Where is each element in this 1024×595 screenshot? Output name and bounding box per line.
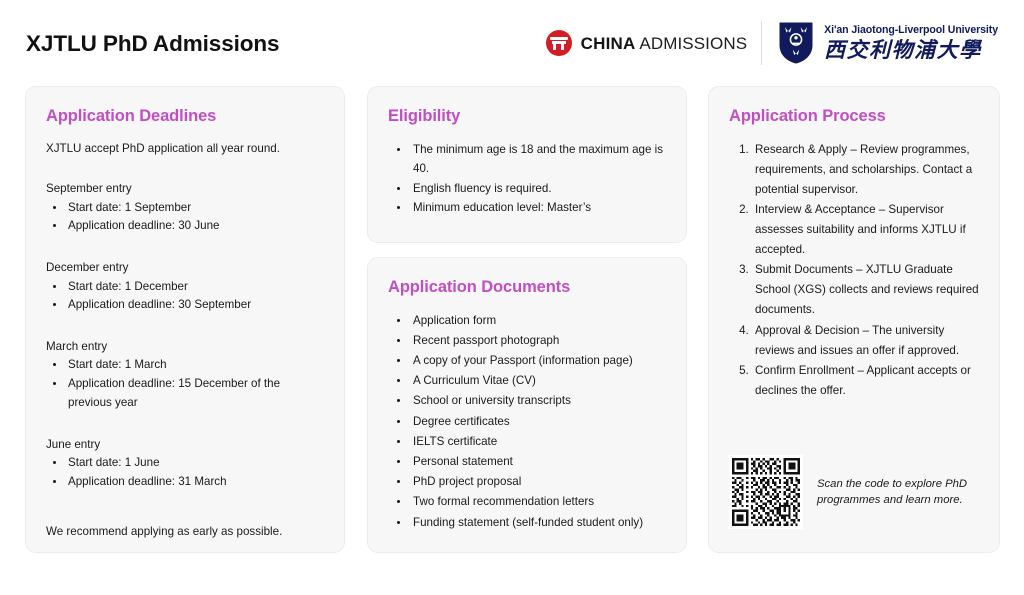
entry-list-september: Start date: 1 September Application dead… — [46, 199, 324, 237]
china-admissions-word-light: ADMISSIONS — [636, 34, 748, 53]
card-application-documents: Application Documents Application form R… — [367, 257, 687, 553]
list-item: English fluency is required. — [410, 179, 666, 198]
xjtlu-shield-crest-icon — [778, 21, 814, 65]
card-eligibility: Eligibility The minimum age is 18 and th… — [367, 86, 687, 243]
list-item: Research & Apply – Review programmes, re… — [752, 140, 983, 200]
deadlines-footer-text: We recommend applying as early as possib… — [46, 523, 324, 540]
torii-gate-icon — [546, 30, 572, 56]
list-item: Degree certificates — [410, 412, 666, 432]
card-heading-eligibility: Eligibility — [388, 107, 666, 127]
list-item: Confirm Enrollment – Applicant accepts o… — [752, 361, 983, 401]
documents-list: Application form Recent passport photogr… — [388, 311, 666, 533]
xjtlu-wordmark: Xi'an Jiaotong-Liverpool University 西交利物… — [824, 25, 998, 61]
list-item: IELTS certificate — [410, 432, 666, 452]
list-item: Approval & Decision – The university rev… — [752, 321, 983, 361]
entry-label-june: June entry — [46, 436, 324, 453]
list-item: The minimum age is 18 and the maximum ag… — [410, 140, 666, 179]
entry-list-december: Start date: 1 December Application deadl… — [46, 278, 324, 316]
infographic-page: XJTLU PhD Admissions CHINA ADMISSIONS — [0, 0, 1024, 595]
list-item: PhD project proposal — [410, 472, 666, 492]
list-item: A copy of your Passport (information pag… — [410, 351, 666, 371]
list-item: Application deadline: 31 March — [66, 473, 324, 492]
list-item: Application deadline: 30 September — [66, 296, 324, 315]
entry-label-september: September entry — [46, 180, 324, 197]
entry-list-june: Start date: 1 June Application deadline:… — [46, 454, 324, 492]
card-application-process: Application Process Research & Apply – R… — [708, 86, 1000, 553]
list-item: Start date: 1 June — [66, 454, 324, 473]
list-item: Application form — [410, 311, 666, 331]
list-item: Personal statement — [410, 452, 666, 472]
card-heading-application-deadlines: Application Deadlines — [46, 107, 324, 127]
list-item: Start date: 1 March — [66, 356, 324, 375]
entry-label-december: December entry — [46, 259, 324, 276]
list-item: Funding statement (self-funded student o… — [410, 513, 666, 533]
china-admissions-logo[interactable]: CHINA ADMISSIONS — [546, 30, 761, 56]
list-item: Minimum education level: Master’s — [410, 198, 666, 217]
china-admissions-word-bold: CHINA — [581, 34, 636, 53]
logo-group: CHINA ADMISSIONS Xi'an Jiaotong-Liverpoo… — [546, 21, 998, 65]
list-item: Start date: 1 September — [66, 199, 324, 218]
card-heading-application-documents: Application Documents — [388, 278, 666, 298]
list-item: Start date: 1 December — [66, 278, 324, 297]
deadlines-lead-text: XJTLU accept PhD application all year ro… — [46, 140, 324, 157]
list-item: Interview & Acceptance – Supervisor asse… — [752, 200, 983, 260]
list-item: Recent passport photograph — [410, 331, 666, 351]
card-application-deadlines: Application Deadlines XJTLU accept PhD a… — [25, 86, 345, 553]
list-item: Application deadline: 30 June — [66, 217, 324, 236]
page-header: XJTLU PhD Admissions CHINA ADMISSIONS — [0, 0, 1024, 82]
entry-list-march: Start date: 1 March Application deadline… — [46, 356, 324, 412]
qr-scan-block: Scan the code to explore PhD programmes … — [729, 455, 977, 529]
xjtlu-chinese-name: 西交利物浦大學 — [824, 39, 998, 61]
eligibility-list: The minimum age is 18 and the maximum ag… — [388, 140, 666, 218]
list-item: Application deadline: 15 December of the… — [66, 375, 324, 413]
china-admissions-wordmark: CHINA ADMISSIONS — [581, 35, 747, 52]
list-item: School or university transcripts — [410, 391, 666, 411]
process-step-list: Research & Apply – Review programmes, re… — [729, 140, 983, 401]
list-item: A Curriculum Vitae (CV) — [410, 371, 666, 391]
entry-label-march: March entry — [46, 338, 324, 355]
list-item: Two formal recommendation letters — [410, 492, 666, 512]
page-title: XJTLU PhD Admissions — [26, 31, 279, 57]
xjtlu-logo[interactable]: Xi'an Jiaotong-Liverpool University 西交利物… — [762, 21, 998, 65]
xjtlu-english-name: Xi'an Jiaotong-Liverpool University — [824, 25, 998, 37]
card-heading-application-process: Application Process — [729, 107, 983, 127]
list-item: Submit Documents – XJTLU Graduate School… — [752, 260, 983, 320]
qr-code-icon[interactable] — [729, 455, 803, 529]
qr-caption: Scan the code to explore PhD programmes … — [817, 476, 977, 508]
